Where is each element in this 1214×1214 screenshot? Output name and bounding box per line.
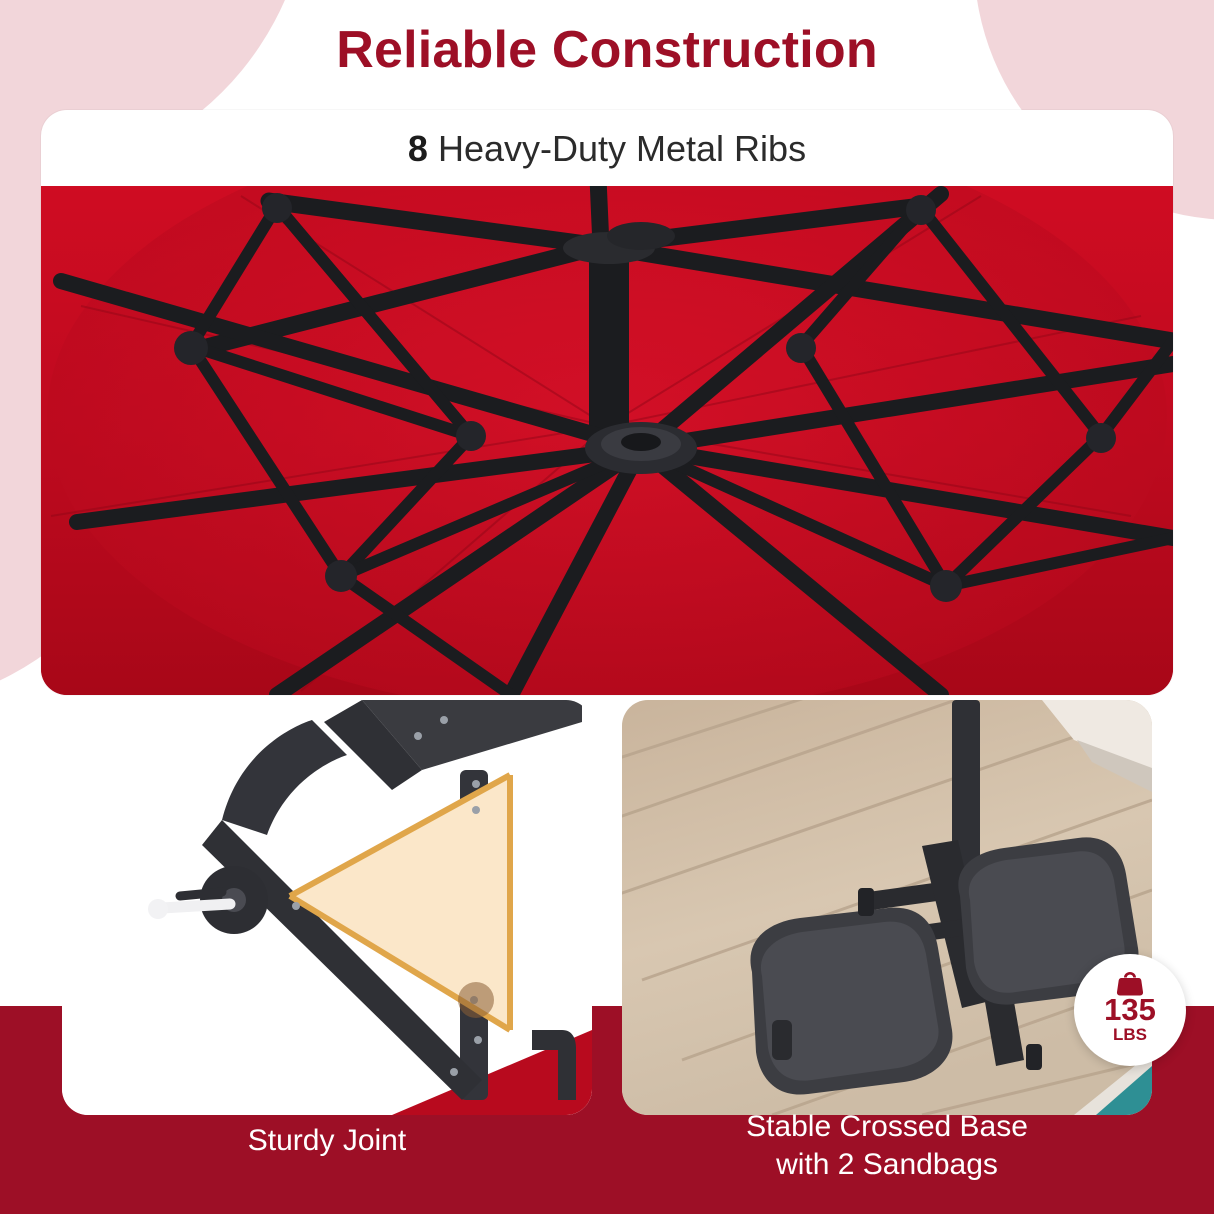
status-badge: 135 LBS xyxy=(1074,954,1186,1066)
caption-stable-base-line1: Stable Crossed Base xyxy=(622,1108,1152,1146)
hero-card: 8 Heavy-Duty Metal Ribs xyxy=(41,110,1173,695)
caption-sturdy-joint: Sturdy Joint xyxy=(62,1122,592,1160)
hero-photo xyxy=(41,186,1173,695)
card-stable-base xyxy=(622,700,1152,1115)
hero-caption: 8 Heavy-Duty Metal Ribs xyxy=(41,110,1173,188)
sandbag-weight-icon xyxy=(1115,970,1145,1001)
sandbag-weight-icon-svg xyxy=(1115,970,1145,996)
badge-unit: LBS xyxy=(1113,1025,1147,1045)
caption-stable-base-line2: with 2 Sandbags xyxy=(622,1146,1152,1184)
card-sturdy-joint xyxy=(62,700,592,1115)
canopy-illustration xyxy=(41,186,1173,695)
joint-photo-illustration xyxy=(62,700,592,1115)
page-title: Reliable Construction xyxy=(0,20,1214,80)
base-photo-illustration xyxy=(622,700,1152,1115)
hero-caption-text: Heavy-Duty Metal Ribs xyxy=(438,128,806,169)
caption-stable-base: Stable Crossed Base with 2 Sandbags xyxy=(622,1108,1152,1184)
infographic-page: Reliable Construction 8 Heavy-Duty Metal… xyxy=(0,0,1214,1214)
hero-caption-number: 8 xyxy=(408,128,428,169)
